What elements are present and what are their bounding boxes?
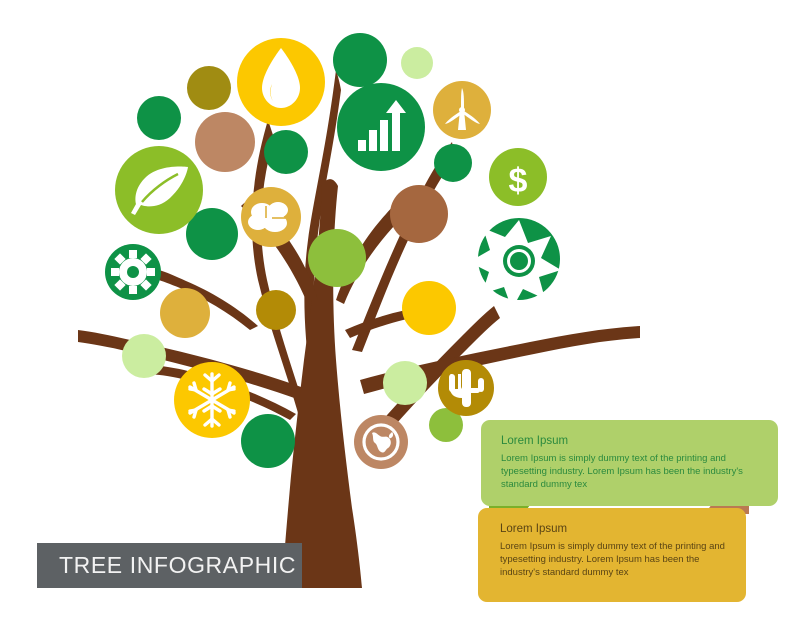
callout-gold-title: Lorem Ipsum — [500, 522, 726, 538]
callout-green-title: Lorem Ipsum — [501, 434, 758, 450]
callout-green-body: Lorem Ipsum is simply dummy text of the … — [501, 452, 758, 492]
page-title: TREE INFOGRAPHIC — [37, 552, 296, 579]
callout-gold-body: Lorem Ipsum is simply dummy text of the … — [500, 540, 726, 580]
icon-circle-water-drop[interactable] — [237, 38, 325, 126]
callout-gold[interactable]: Lorem Ipsum Lorem Ipsum is simply dummy … — [478, 508, 746, 602]
icon-circle-gear[interactable] — [105, 244, 161, 300]
callout-green[interactable]: Lorem Ipsum Lorem Ipsum is simply dummy … — [481, 420, 778, 506]
icon-circle-cactus[interactable] — [438, 360, 494, 416]
cloud-icon — [248, 202, 288, 232]
icon-circle-sun[interactable] — [469, 218, 561, 309]
infographic-canvas: $ — [0, 0, 800, 623]
dollar-sign-icon: $ — [509, 162, 528, 200]
icon-circle-wind-turbine[interactable] — [433, 81, 491, 139]
icon-circle-cloud[interactable] — [241, 187, 301, 247]
icon-circle-dollar[interactable]: $ — [489, 148, 547, 206]
title-ribbon: TREE INFOGRAPHIC — [37, 543, 302, 588]
icon-circle-snowflake[interactable] — [174, 362, 250, 438]
icon-circle-growth-chart[interactable] — [337, 83, 425, 171]
icon-circle-globe[interactable] — [354, 415, 408, 469]
icon-circle-leaf[interactable] — [115, 146, 203, 234]
